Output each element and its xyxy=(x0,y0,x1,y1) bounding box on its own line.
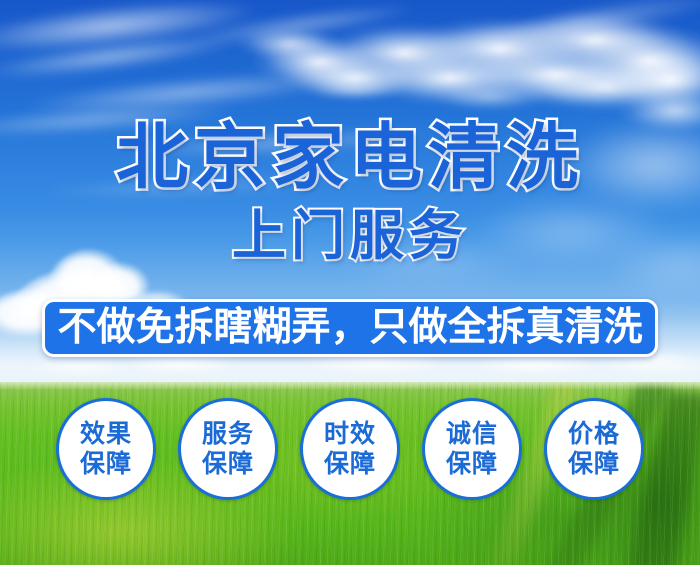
badge-line-2: 保障 xyxy=(80,449,132,479)
badge-line-1: 价格 xyxy=(568,419,620,449)
badge-line-2: 保障 xyxy=(568,449,620,479)
promotional-poster: 北京家电清洗 上门服务 不做免拆瞎糊弄，只做全拆真清洗 效果 保障 服务 保障 … xyxy=(0,0,700,565)
guarantee-badge-price: 价格 保障 xyxy=(544,398,644,500)
cloud-puff xyxy=(300,76,410,102)
cloud-puff xyxy=(235,26,345,62)
guarantee-badge-timeliness: 时效 保障 xyxy=(300,398,400,500)
badge-line-1: 效果 xyxy=(80,419,132,449)
badge-line-1: 服务 xyxy=(202,419,254,449)
guarantee-badge-service: 服务 保障 xyxy=(178,398,278,500)
guarantee-badge-integrity: 诚信 保障 xyxy=(422,398,522,500)
badge-line-2: 保障 xyxy=(324,449,376,479)
page-subtitle: 上门服务 xyxy=(0,206,700,266)
guarantee-badge-effect: 效果 保障 xyxy=(56,398,156,500)
horizon-cloudlet xyxy=(30,358,130,376)
horizon-cloudlet xyxy=(470,354,600,374)
slogan-banner: 不做免拆瞎糊弄，只做全拆真清洗 xyxy=(42,299,658,357)
badge-line-1: 诚信 xyxy=(446,419,498,449)
badge-line-2: 保障 xyxy=(202,449,254,479)
badge-line-2: 保障 xyxy=(446,449,498,479)
field-horizon-edge xyxy=(0,382,700,390)
page-title: 北京家电清洗 xyxy=(0,118,700,196)
badge-line-1: 时效 xyxy=(324,419,376,449)
cloud-puff xyxy=(430,82,550,112)
guarantee-badge-row: 效果 保障 服务 保障 时效 保障 诚信 保障 价格 保障 xyxy=(0,398,700,503)
slogan-text: 不做免拆瞎糊弄，只做全拆真清洗 xyxy=(57,306,642,350)
